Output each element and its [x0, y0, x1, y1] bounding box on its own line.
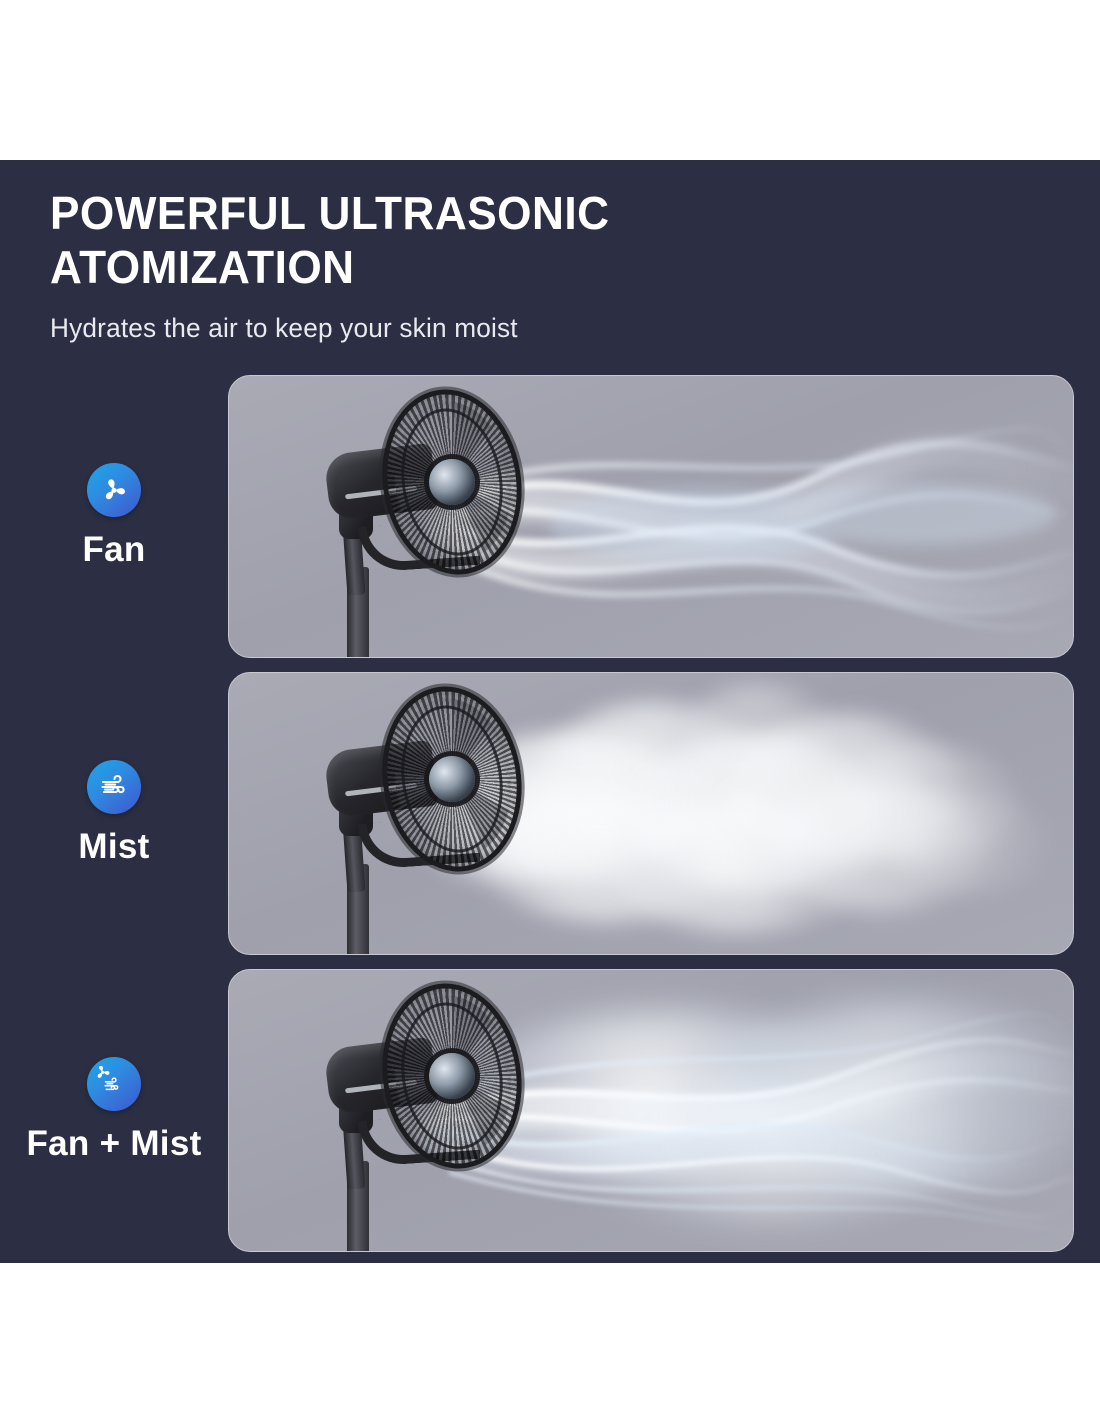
pedestal-fan-illustration — [311, 387, 571, 657]
scene-fan-mist — [229, 970, 1073, 1251]
mode-row-mist: Mist — [0, 672, 1100, 955]
mode-label-fan: Fan — [82, 530, 145, 570]
page-subtitle: Hydrates the air to keep your skin moist — [50, 313, 1001, 344]
pedestal-fan-illustration — [311, 684, 571, 954]
infographic-page: POWERFUL ULTRASONIC ATOMIZATION Hydrates… — [0, 0, 1100, 1422]
mode-row-fan: Fan — [0, 375, 1100, 658]
headline-block: POWERFUL ULTRASONIC ATOMIZATION Hydrates… — [50, 186, 1030, 344]
mode-label-mist: Mist — [78, 827, 149, 867]
scene-card-mist — [228, 672, 1074, 955]
scene-fan — [229, 376, 1073, 657]
mode-fan[interactable]: Fan — [0, 463, 228, 570]
mode-fan-mist[interactable]: Fan + Mist — [0, 1057, 228, 1164]
pedestal-fan-illustration — [311, 981, 571, 1251]
page-title: POWERFUL ULTRASONIC ATOMIZATION — [50, 186, 741, 295]
fan-propeller-icon — [87, 463, 141, 517]
mode-row-fan-mist: Fan + Mist — [0, 969, 1100, 1252]
scene-mist — [229, 673, 1073, 954]
scene-card-fan-mist — [228, 969, 1074, 1252]
mode-label-fan-mist: Fan + Mist — [26, 1124, 201, 1164]
wind-mist-icon — [87, 760, 141, 814]
fan-plus-mist-icon — [87, 1057, 141, 1111]
scene-card-fan — [228, 375, 1074, 658]
mode-mist[interactable]: Mist — [0, 760, 228, 867]
